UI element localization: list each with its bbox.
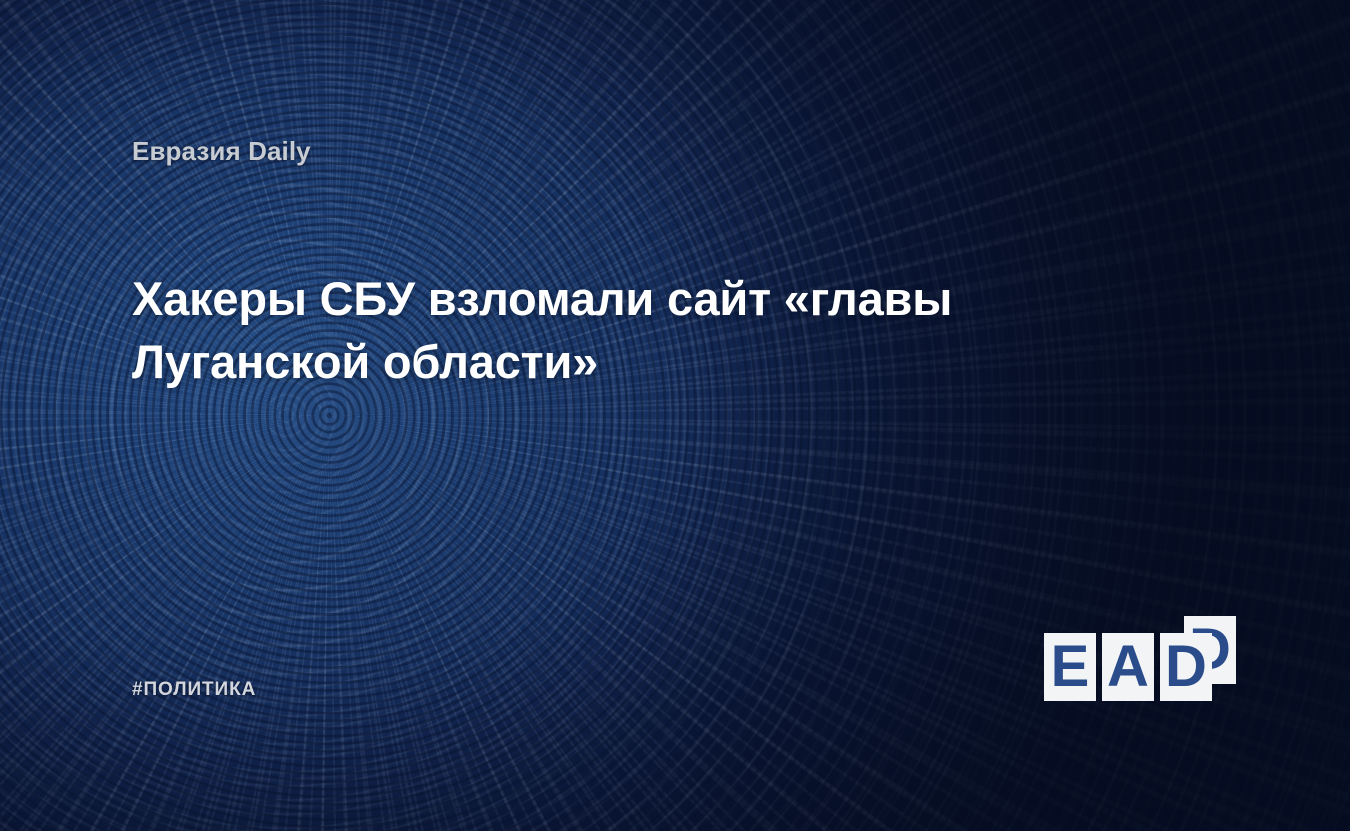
logo-letter-a: A [1107, 638, 1149, 696]
logo-letter-d: D [1165, 638, 1207, 696]
social-share-card: Евразия Daily Хакеры СБУ взломали сайт «… [0, 0, 1350, 831]
category-hashtag: #ПОЛИТИКА [132, 679, 256, 701]
brand-wordmark: Евразия Daily [132, 136, 311, 167]
logo-tile-a: A [1102, 633, 1154, 701]
logo-tile-e: E [1044, 633, 1096, 701]
logo-tile-d: D [1160, 633, 1212, 701]
headline: Хакеры СБУ взломали сайт «главы Луганско… [132, 268, 1092, 393]
eadaily-logo: D E A D [1044, 616, 1234, 716]
logo-letter-e: E [1051, 638, 1090, 696]
